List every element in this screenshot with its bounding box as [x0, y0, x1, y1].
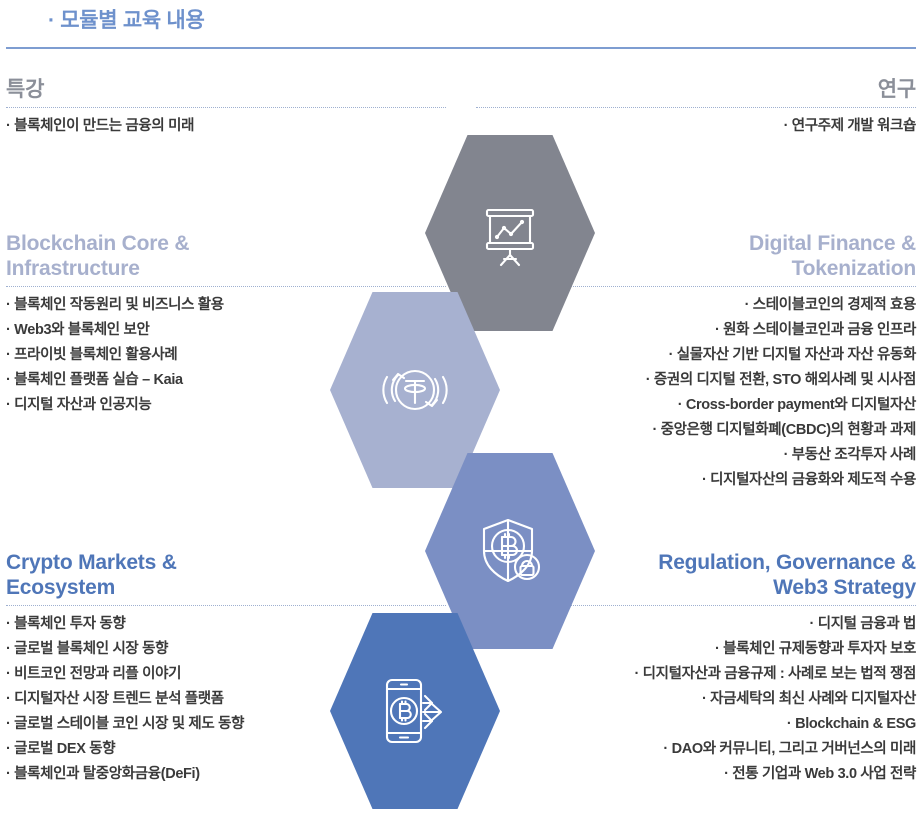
presentation-chart-icon: [474, 197, 546, 269]
list-item: · 증권의 디지털 전환, STO 해외사례 및 시사점: [476, 368, 916, 393]
list-item: · Blockchain & ESG: [476, 712, 916, 737]
section-heading: Blockchain Core & Infrastructure: [6, 232, 446, 282]
list-item: · 디지털자산과 금융규제 : 사례로 보는 법적 쟁점: [476, 662, 916, 687]
section-divider: [6, 605, 446, 606]
section-heading: Crypto Markets & Ecosystem: [6, 551, 446, 601]
list-item: · 실물자산 기반 디지털 자산과 자산 유동화: [476, 343, 916, 368]
list-item: · 자금세탁의 최신 사례와 디지털자산: [476, 687, 916, 712]
list-item: · 중앙은행 디지털화폐(CBDC)의 현황과 과제: [476, 418, 916, 443]
shield-bitcoin-lock-icon: [471, 512, 549, 590]
title-divider: [6, 47, 916, 49]
section-divider: [6, 286, 446, 287]
title-bullet: ·: [48, 9, 55, 32]
tether-coin-cycle-icon: [373, 351, 457, 429]
section-heading: 특강: [6, 78, 446, 103]
section-special-lecture: 특강 · 블록체인이 만드는 금융의 미래: [6, 78, 446, 139]
page-title: · 모듈별 교육 내용: [48, 4, 204, 34]
section-divider: [6, 107, 446, 108]
mobile-bitcoin-transfer-icon: [375, 671, 455, 751]
section-heading: 연구: [476, 78, 916, 103]
list-item: · Cross-border payment와 디지털자산: [476, 393, 916, 418]
page-title-text: 모듈별 교육 내용: [60, 9, 204, 32]
list-item: · 블록체인이 만드는 금융의 미래: [6, 114, 446, 139]
section-divider: [476, 107, 916, 108]
list-item: · 전통 기업과 Web 3.0 사업 전략: [476, 762, 916, 787]
section-item-list: · 블록체인이 만드는 금융의 미래: [6, 114, 446, 139]
section-research: 연구 · 연구주제 개발 워크숍: [476, 78, 916, 139]
list-item: · DAO와 커뮤니티, 그리고 거버넌스의 미래: [476, 737, 916, 762]
